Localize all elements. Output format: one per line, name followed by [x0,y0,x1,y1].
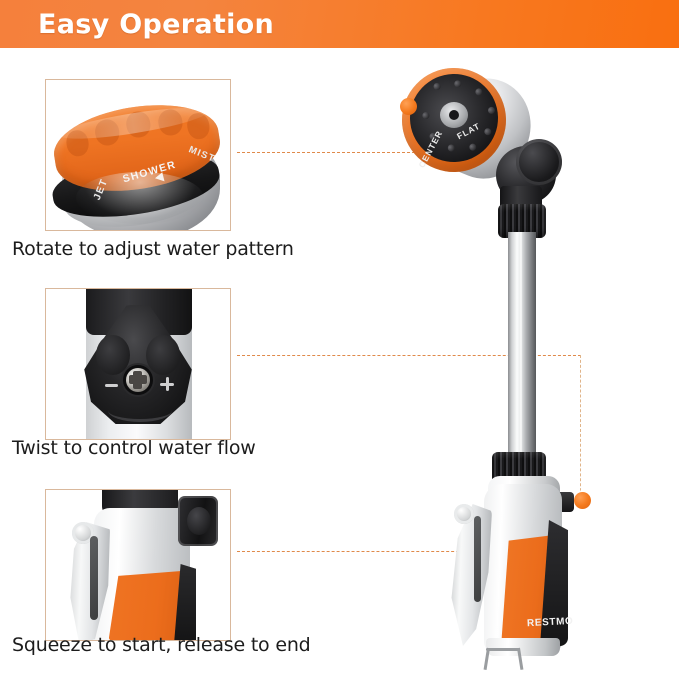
hose-clip [486,648,520,672]
connector-line-2 [237,355,581,356]
caption-spray-pattern: Rotate to adjust water pattern [12,238,294,260]
nozzle-dome-shading [76,172,204,224]
pole-collar-bottom [492,452,546,488]
knob-lower-groove [108,399,172,422]
spray-head-hub [440,102,468,128]
spray-head-collar [385,51,522,188]
knob-center-screw [126,368,150,392]
squeeze-trigger [448,504,492,646]
caption-trigger: Squeeze to start, release to end [12,634,311,656]
knob-plus-mark [160,377,174,391]
spray-nozzle-holes [401,63,512,174]
connector-line-2-drop [580,355,581,501]
connector-dot-trigger [479,543,496,560]
page-title: Easy Operation [38,9,274,40]
handle-collar [488,476,560,504]
spray-head-marker-dot [400,98,417,115]
callout-card-spray-pattern: JET SHOWER MIST [45,79,231,231]
connector-dot-pole [574,492,591,509]
header-banner: Easy Operation [0,0,679,48]
spray-label-center: CENTER [416,129,444,170]
photo-spray-pattern: JET SHOWER MIST [46,80,230,230]
telescoping-pole [508,232,536,460]
swivel-ball [496,146,556,204]
knob-minus-mark [105,384,118,387]
spray-head-body [423,64,546,191]
photo-flow-control [46,289,230,439]
handle-grip-dark [540,520,568,646]
handle-grip-orange [500,534,562,644]
callout-card-flow-control [45,288,231,440]
trigger-slot [474,516,481,602]
callout-card-trigger [45,489,231,641]
spray-label-flat: FLAT [455,121,482,142]
swivel-cap [516,139,562,185]
connector-line-1 [237,152,415,153]
swivel-neck [500,186,542,220]
infographic-page: Easy Operation CENTER FLAT [0,0,679,675]
trigger-lock-detail [178,496,218,546]
handle-base [486,638,560,656]
brand-logo: RESTMO [527,616,574,629]
pole-collar-top [498,204,546,238]
knob-lobe-left [96,335,130,375]
spray-head: CENTER FLAT [404,70,522,188]
knob-lobe-right [146,335,180,375]
trigger-slot-detail [90,536,98,620]
caption-flow-control: Twist to control water flow [12,437,256,459]
spray-head-plate [396,60,512,176]
connector-line-3 [237,551,489,552]
handle-side-port [552,492,574,512]
handle-body [484,484,562,652]
pole-highlight [520,232,522,460]
trigger-pivot-screw [454,504,474,524]
photo-trigger [46,490,230,640]
